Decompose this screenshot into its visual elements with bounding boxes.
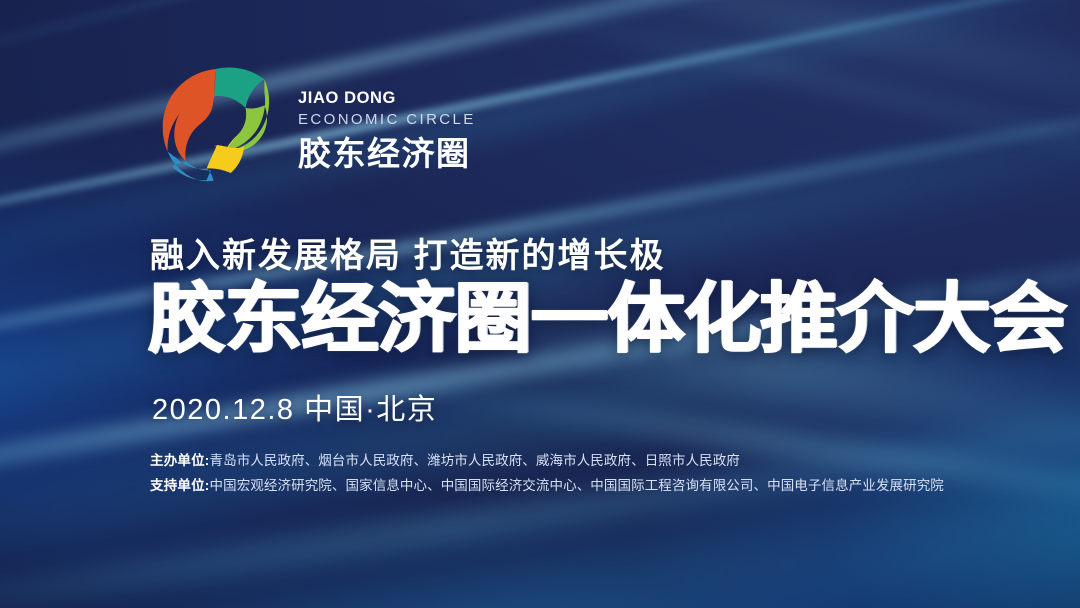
organizer-block: 主办单位:青岛市人民政府、烟台市人民政府、潍坊市人民政府、威海市人民政府、日照市… — [150, 452, 944, 495]
support-organizer-line: 支持单位:中国宏观经济研究院、国家信息中心、中国国际经济交流中心、中国国际工程咨… — [150, 477, 944, 495]
logo-lockup: JIAO DONG ECONOMIC CIRCLE 胶东经济圈 — [150, 56, 476, 186]
support-organizer-value: 中国宏观经济研究院、国家信息中心、中国国际经济交流中心、中国国际工程咨询有限公司… — [210, 478, 944, 493]
poster-headline: 胶东经济圈一体化推介大会 — [148, 281, 1066, 359]
conference-poster: JIAO DONG ECONOMIC CIRCLE 胶东经济圈 融入新发展格局 … — [0, 0, 1080, 608]
host-organizer-line: 主办单位:青岛市人民政府、烟台市人民政府、潍坊市人民政府、威海市人民政府、日照市… — [150, 452, 944, 470]
poster-content: JIAO DONG ECONOMIC CIRCLE 胶东经济圈 融入新发展格局 … — [0, 0, 1080, 608]
jiaodong-circular-swoosh-logo-icon — [150, 56, 280, 186]
host-organizer-value: 青岛市人民政府、烟台市人民政府、潍坊市人民政府、威海市人民政府、日照市人民政府 — [210, 453, 740, 468]
poster-subtitle: 融入新发展格局 打造新的增长极 — [150, 228, 665, 277]
poster-date-location: 2020.12.8 中国·北京 — [152, 386, 437, 428]
logo-english-secondary: ECONOMIC CIRCLE — [298, 109, 476, 131]
logo-orange-segment — [163, 69, 216, 161]
logo-chinese-name: 胶东经济圈 — [298, 136, 476, 172]
logo-wordmark: JIAO DONG ECONOMIC CIRCLE 胶东经济圈 — [298, 70, 476, 172]
logo-teal-segment — [214, 68, 264, 108]
logo-blue-segment — [168, 152, 214, 182]
support-organizer-label: 支持单位: — [150, 478, 210, 493]
host-organizer-label: 主办单位: — [150, 453, 210, 468]
logo-english-primary: JIAO DONG — [298, 88, 476, 109]
